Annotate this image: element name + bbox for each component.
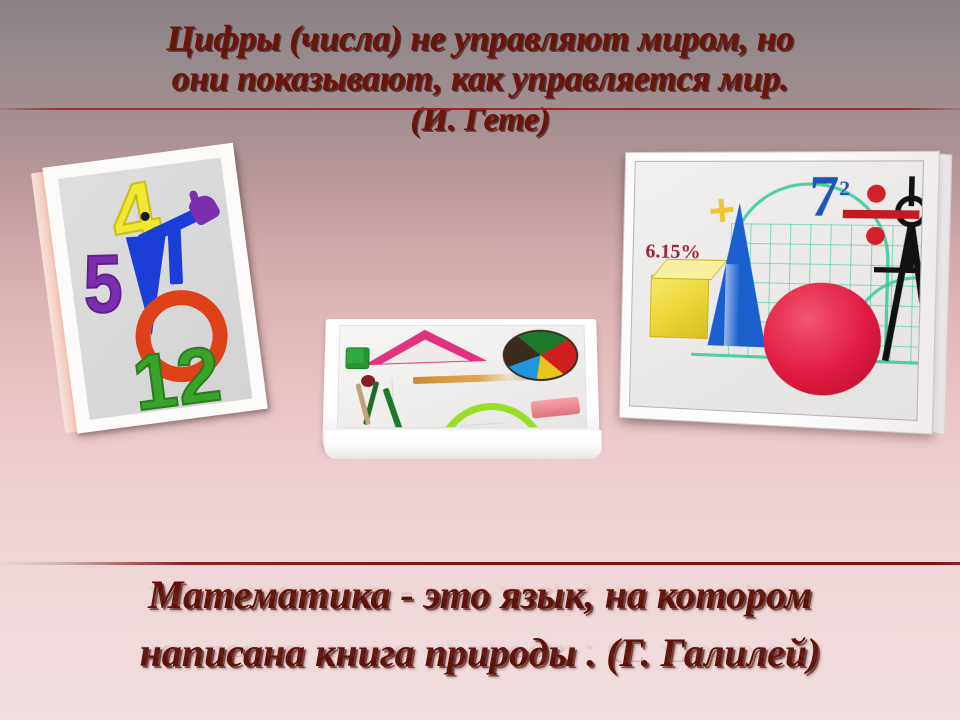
digit-arm-lower xyxy=(167,222,183,285)
yellow-cube-icon xyxy=(649,275,709,339)
division-bar xyxy=(843,210,920,219)
eraser-icon xyxy=(530,397,580,419)
image-math-textbook: 4 5 1 2 xyxy=(42,150,272,440)
image-drawing-tools xyxy=(322,310,600,455)
image-math-shapes: + 72 6.15% xyxy=(618,152,930,437)
frame-border: + 72 6.15% xyxy=(619,151,940,435)
division-dot-bottom xyxy=(866,227,885,245)
triangle-ruler-icon xyxy=(364,328,488,366)
book-page-artwork: 4 5 1 2 xyxy=(58,158,252,420)
title-quote-line-2: они показывают, как управляется мир. xyxy=(0,58,960,98)
tray-photo xyxy=(337,325,587,428)
pie-chart-icon xyxy=(503,330,579,381)
title-quote-line-1: Цифры (числа) не управляют миром, но xyxy=(0,18,960,58)
presentation-slide: Цифры (числа) не управляют миром, но они… xyxy=(0,0,960,720)
tray-frame xyxy=(322,319,600,451)
title-quote-attribution: (И. Гете) xyxy=(0,98,960,140)
tray-lip xyxy=(324,430,602,459)
green-cube-icon xyxy=(345,347,369,369)
digit-five: 5 xyxy=(82,237,123,332)
title-quote-block: Цифры (числа) не управляют миром, но они… xyxy=(0,18,960,140)
blue-cone-icon xyxy=(708,203,769,348)
division-sign-icon xyxy=(842,185,920,245)
bottom-quote-block: Математика - это язык, на котором Матема… xyxy=(0,572,960,688)
bottom-divider-line xyxy=(0,562,960,565)
bottom-quote-line-1: Математика - это язык, на котором xyxy=(0,572,960,618)
frame-artwork: + 72 6.15% xyxy=(629,160,924,421)
book-cover: 4 5 1 2 xyxy=(42,143,267,434)
bottom-quote-line-2: написана книга природы . (Г. Галилей) xyxy=(0,630,960,676)
top-divider-line xyxy=(0,108,960,110)
division-dot-top xyxy=(867,185,886,203)
